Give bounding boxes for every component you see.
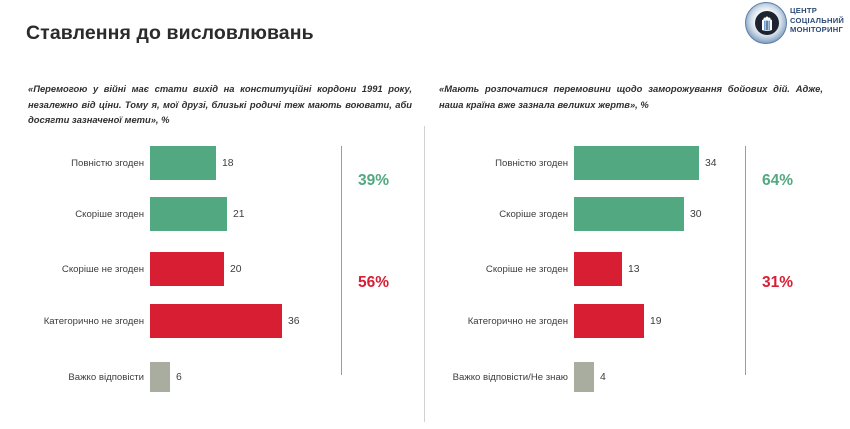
bar-row: Скоріше згоден30 (425, 197, 850, 231)
group-percentage-label: 64% (762, 172, 793, 190)
bar-value-label: 21 (233, 197, 245, 231)
bar-value-label: 30 (690, 197, 702, 231)
bar (150, 362, 170, 392)
bar-row: Категорично не згоден36 (0, 304, 425, 338)
bar (574, 304, 644, 338)
bar-value-label: 18 (222, 146, 234, 180)
bar-category-label: Скоріше згоден (75, 197, 144, 231)
bar-category-label: Важко відповісти (68, 360, 144, 394)
bar-row: Категорично не згоден19 (425, 304, 850, 338)
bar-category-label: Важко відповісти/Не знаю (453, 360, 568, 394)
bar-row: Важко відповісти/Не знаю4 (425, 360, 850, 394)
bar-rows-right: Повністю згоден34Скоріше згоден30Скоріше… (425, 0, 850, 429)
bar-category-label: Категорично не згоден (468, 304, 568, 338)
bar-category-label: Категорично не згоден (44, 304, 144, 338)
bar (574, 362, 594, 392)
chart-panel-left: «Перемогою у війні має стати вихід на ко… (0, 0, 425, 429)
group-percentage-label: 39% (358, 172, 389, 190)
bar-row: Скоріше згоден21 (0, 197, 425, 231)
group-bracket (341, 252, 342, 375)
group-percentage-label: 56% (358, 274, 389, 292)
bar (150, 252, 224, 286)
bar-category-label: Повністю згоден (71, 146, 144, 180)
bar (574, 146, 699, 180)
bar (150, 146, 216, 180)
bar-category-label: Скоріше не згоден (62, 252, 144, 286)
bar-category-label: Повністю згоден (495, 146, 568, 180)
bar-value-label: 19 (650, 304, 662, 338)
bar-value-label: 34 (705, 146, 717, 180)
group-percentage-label: 31% (762, 274, 793, 292)
bar-rows-left: Повністю згоден18Скоріше згоден21Скоріше… (0, 0, 425, 429)
bar (574, 252, 622, 286)
chart-panel-right: «Мають розпочатися перемовини щодо замор… (425, 0, 850, 429)
group-bracket (745, 252, 746, 375)
bar-value-label: 20 (230, 252, 242, 286)
bar (150, 304, 282, 338)
bar-row: Важко відповісти6 (0, 360, 425, 394)
slide-root: Ставлення до висловлювань ЦЕНТР СОЦІАЛЬН… (0, 0, 850, 429)
bar (150, 197, 227, 231)
bar-value-label: 6 (176, 362, 182, 392)
bar-category-label: Скоріше не згоден (486, 252, 568, 286)
group-bracket (745, 146, 746, 263)
group-bracket (341, 146, 342, 263)
bar-value-label: 4 (600, 362, 606, 392)
bar-value-label: 36 (288, 304, 300, 338)
bar (574, 197, 684, 231)
bar-value-label: 13 (628, 252, 640, 286)
bar-category-label: Скоріше згоден (499, 197, 568, 231)
